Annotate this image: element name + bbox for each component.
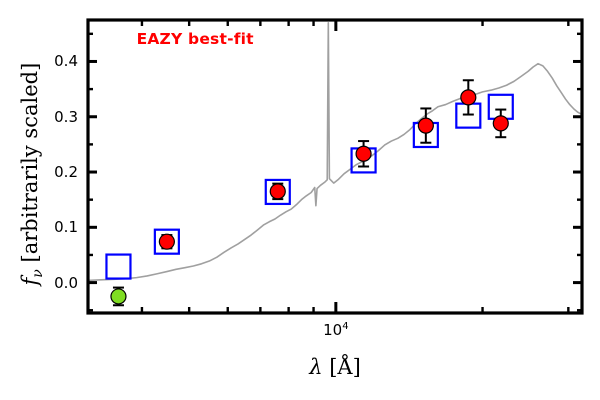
photometry-point bbox=[111, 289, 126, 304]
x-tick-label: 104 bbox=[323, 321, 348, 339]
axis-frame bbox=[88, 20, 582, 313]
photometry-point bbox=[493, 116, 508, 131]
photometry-point bbox=[270, 184, 285, 199]
model-square-group bbox=[106, 95, 512, 279]
model-flux-square bbox=[106, 255, 130, 279]
photometry-point bbox=[461, 90, 476, 105]
plot-area bbox=[0, 0, 600, 400]
photometry-point bbox=[159, 234, 174, 249]
photometry-point bbox=[418, 118, 433, 133]
photometry-point bbox=[356, 146, 371, 161]
data-point-group bbox=[111, 90, 508, 304]
axis-frame-group bbox=[88, 20, 582, 313]
figure-canvas: fν [arbitrarily scaled] λ [Å] 0.00.10.20… bbox=[0, 0, 600, 400]
